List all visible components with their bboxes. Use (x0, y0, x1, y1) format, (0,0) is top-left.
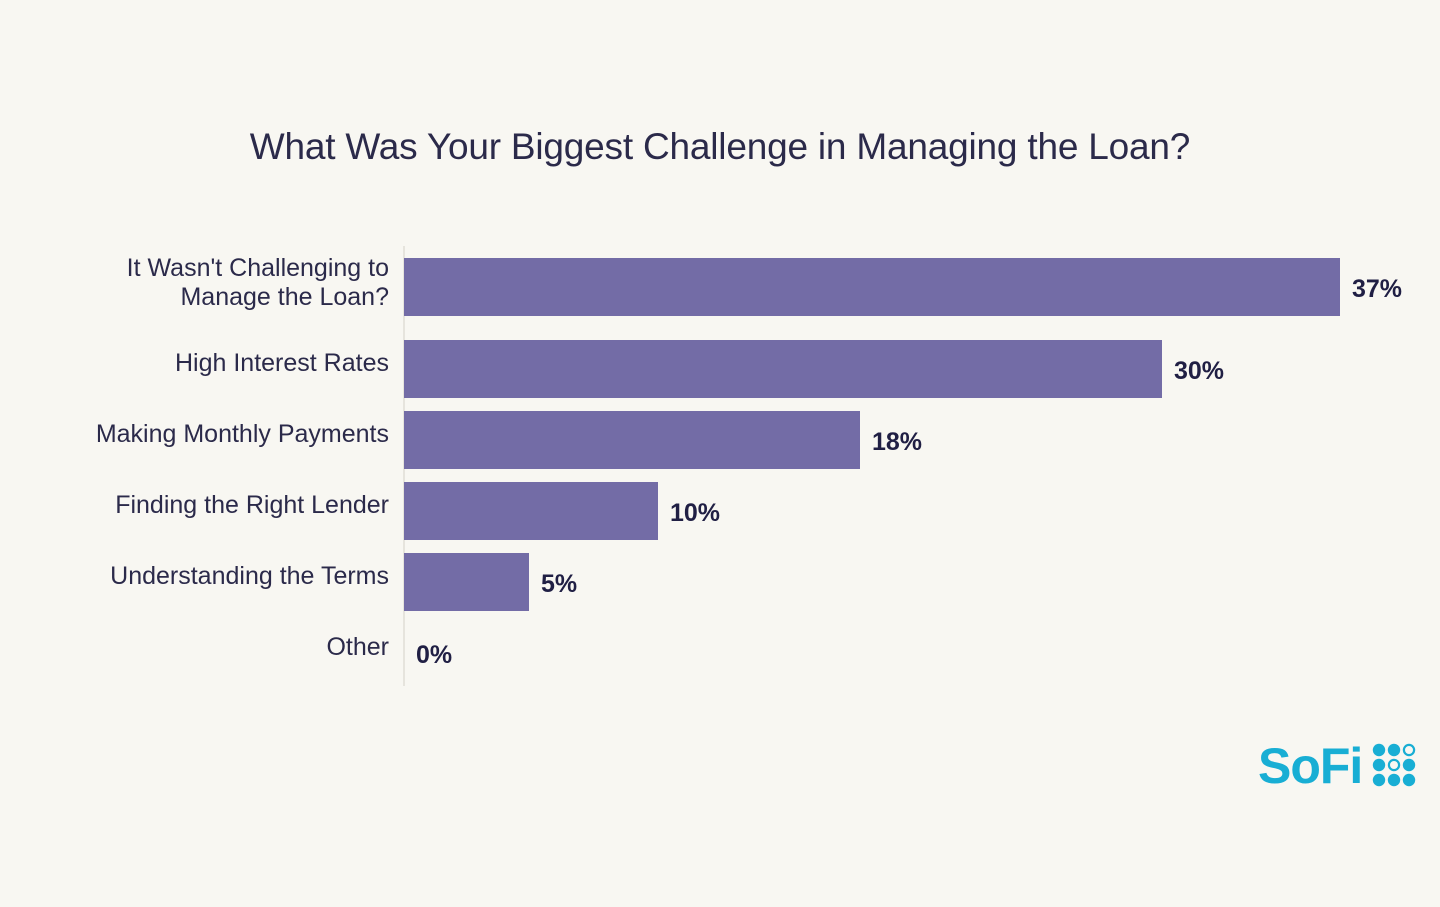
category-label: It Wasn't Challenging to Manage the Loan… (0, 254, 389, 312)
bar-value-label: 37% (1352, 277, 1402, 302)
category-label-line1: Finding the Right Lender (0, 490, 389, 520)
category-label: Other (0, 632, 389, 662)
category-label-line1: Other (0, 632, 389, 662)
bar-segment[interactable] (404, 258, 1340, 316)
bar-row: It Wasn't Challenging to Manage the Loan… (0, 246, 1440, 318)
category-label: High Interest Rates (0, 348, 389, 378)
bar-row: Other 0% (0, 612, 1440, 684)
bar-value-label: 5% (541, 572, 577, 597)
bar-segment[interactable] (404, 482, 658, 540)
chart-container: What Was Your Biggest Challenge in Manag… (0, 0, 1440, 907)
sofi-wordmark: SoFi (1258, 741, 1362, 791)
category-label: Understanding the Terms (0, 561, 389, 591)
bar-segment[interactable] (404, 340, 1162, 398)
bar-value-label: 30% (1174, 359, 1224, 384)
category-label-line2: Manage the Loan? (0, 283, 389, 312)
sofi-dot-grid-icon (1371, 742, 1417, 793)
bar-row: Understanding the Terms 5% (0, 541, 1440, 613)
bar-segment[interactable] (404, 411, 860, 469)
bar-row: Making Monthly Payments 18% (0, 399, 1440, 471)
category-label: Finding the Right Lender (0, 490, 389, 520)
category-label-line1: Understanding the Terms (0, 561, 389, 591)
category-label-line1: Making Monthly Payments (0, 419, 389, 449)
bar-value-label: 0% (416, 643, 452, 668)
category-label-line1: It Wasn't Challenging to (0, 254, 389, 283)
category-label: Making Monthly Payments (0, 419, 389, 449)
bar-segment[interactable] (404, 553, 529, 611)
sofi-logo: SoFi (1258, 735, 1424, 797)
page-title: What Was Your Biggest Challenge in Manag… (0, 126, 1440, 169)
bar-value-label: 10% (670, 501, 720, 526)
bar-row: Finding the Right Lender 10% (0, 470, 1440, 542)
plot-area: It Wasn't Challenging to Manage the Loan… (0, 246, 1440, 696)
bar-row: High Interest Rates 30% (0, 328, 1440, 400)
category-label-line1: High Interest Rates (0, 348, 389, 378)
bar-value-label: 18% (872, 430, 922, 455)
